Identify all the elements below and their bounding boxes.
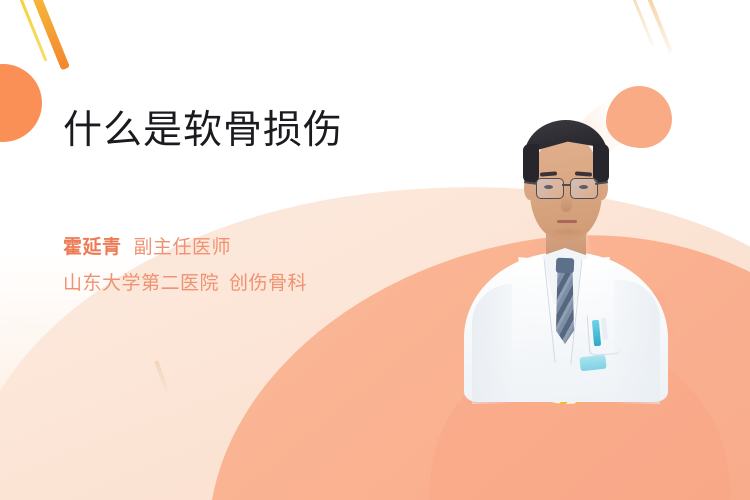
hospital-name: 山东大学第二医院 (63, 273, 219, 294)
faint-diagonal-stripe-top-right-2 (647, 0, 672, 53)
eyeglass-bridge (562, 184, 570, 186)
portrait-bottom-fade (460, 362, 670, 402)
doctor-affiliation: 山东大学第二医院创伤骨科 (63, 266, 483, 302)
hair-side-left (523, 144, 539, 184)
text-block: 什么是软骨损伤 霍延青副主任医师 山东大学第二医院创伤骨科 (63, 108, 483, 303)
yellow-diagonal-stripe (15, 0, 47, 62)
page-title: 什么是软骨损伤 (63, 108, 483, 154)
department-name: 创伤骨科 (229, 273, 307, 294)
necktie-knot (556, 258, 575, 274)
doctor-name: 霍延青 (63, 237, 122, 258)
orange-circle-decoration (0, 64, 42, 142)
nose (561, 196, 572, 212)
video-cover-card: 什么是软骨损伤 霍延青副主任医师 山东大学第二医院创伤骨科 (0, 0, 750, 500)
orange-diagonal-stripe (27, 0, 70, 70)
doctor-figure (460, 98, 670, 398)
necktie (556, 270, 574, 344)
eyeglass-lens-right (570, 178, 598, 199)
mouth (557, 220, 577, 223)
doctor-title: 副主任医师 (134, 237, 232, 258)
doctor-credentials: 霍延青副主任医师 山东大学第二医院创伤骨科 (63, 230, 483, 303)
faint-diagonal-stripe-top-right-1 (631, 0, 655, 47)
faint-diagonal-stripe-lower-left (154, 360, 169, 393)
eyeglass-lens-left (536, 178, 564, 199)
chin-shading (548, 227, 586, 237)
